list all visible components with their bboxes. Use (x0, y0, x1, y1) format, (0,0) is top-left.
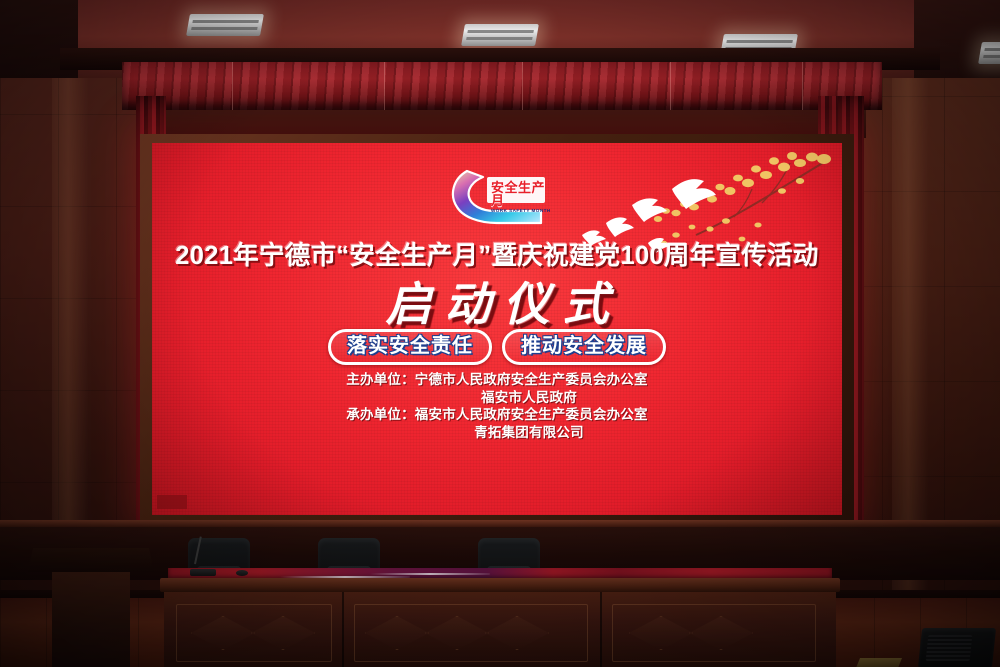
podium-body (52, 572, 130, 667)
table-panel (354, 604, 588, 662)
led-screen: 安全生产月 WORK SAFETY MONTH 2021年宁德市“安全生产月”暨… (152, 143, 842, 515)
slogan-row: 落实安全责任 推动安全发展 (152, 329, 842, 365)
monitor-grill (926, 635, 973, 661)
event-subtitle: 启动仪式 (152, 268, 842, 334)
table-panel (612, 604, 816, 662)
screen-pixel-artifact (157, 495, 187, 509)
table-seam (600, 592, 602, 667)
panel-diamond (689, 616, 753, 650)
desk-item-round (236, 570, 248, 576)
table-panel (176, 604, 332, 662)
logo-text-block: 安全生产月 WORK SAFETY MONTH (491, 181, 547, 214)
table-cable (280, 576, 410, 578)
panel-diamond (629, 616, 693, 650)
stage-platform-trim (0, 520, 1000, 527)
table-seam (342, 592, 344, 667)
recessed-ceiling-light (186, 14, 264, 36)
logo-en-text: WORK SAFETY MONTH (491, 209, 547, 214)
organizer-line: 主办单位：宁德市人民政府安全生产委员会办公室 (152, 371, 842, 389)
work-safety-month-logo: 安全生产月 WORK SAFETY MONTH (445, 165, 549, 229)
recessed-ceiling-light (978, 42, 1000, 64)
speaker-podium (28, 548, 154, 667)
floor-paper (856, 658, 902, 667)
panel-diamond (191, 616, 255, 650)
panel-diamond (365, 616, 429, 650)
panel-diamond (425, 616, 489, 650)
table-cable (370, 573, 490, 575)
panel-diamond (485, 616, 549, 650)
desk-item-box (190, 569, 216, 576)
floor-stage-monitor (918, 628, 996, 667)
organizer-line: 青拓集团有限公司 (152, 424, 842, 442)
podium-top (28, 548, 154, 572)
event-headline: 2021年宁德市“安全生产月”暨庆祝建党100周年宣传活动 (152, 235, 842, 272)
organizer-block: 主办单位：宁德市人民政府安全生产委员会办公室 福安市人民政府 承办单位：福安市人… (152, 371, 842, 441)
recessed-ceiling-light (461, 24, 539, 46)
organizer-line: 承办单位：福安市人民政府安全生产委员会办公室 (152, 406, 842, 424)
slogan-pill-1: 落实安全责任 (328, 329, 492, 365)
logo-cn-text: 安全生产月 (491, 181, 547, 207)
organizer-line: 福安市人民政府 (152, 389, 842, 407)
panel-diamond (251, 616, 315, 650)
event-stage-photo: 安全生产月 WORK SAFETY MONTH 2021年宁德市“安全生产月”暨… (0, 0, 1000, 667)
red-curtain-valance (122, 62, 882, 110)
conference-table (160, 560, 840, 667)
table-top (160, 578, 840, 592)
slogan-pill-2: 推动安全发展 (502, 329, 666, 365)
